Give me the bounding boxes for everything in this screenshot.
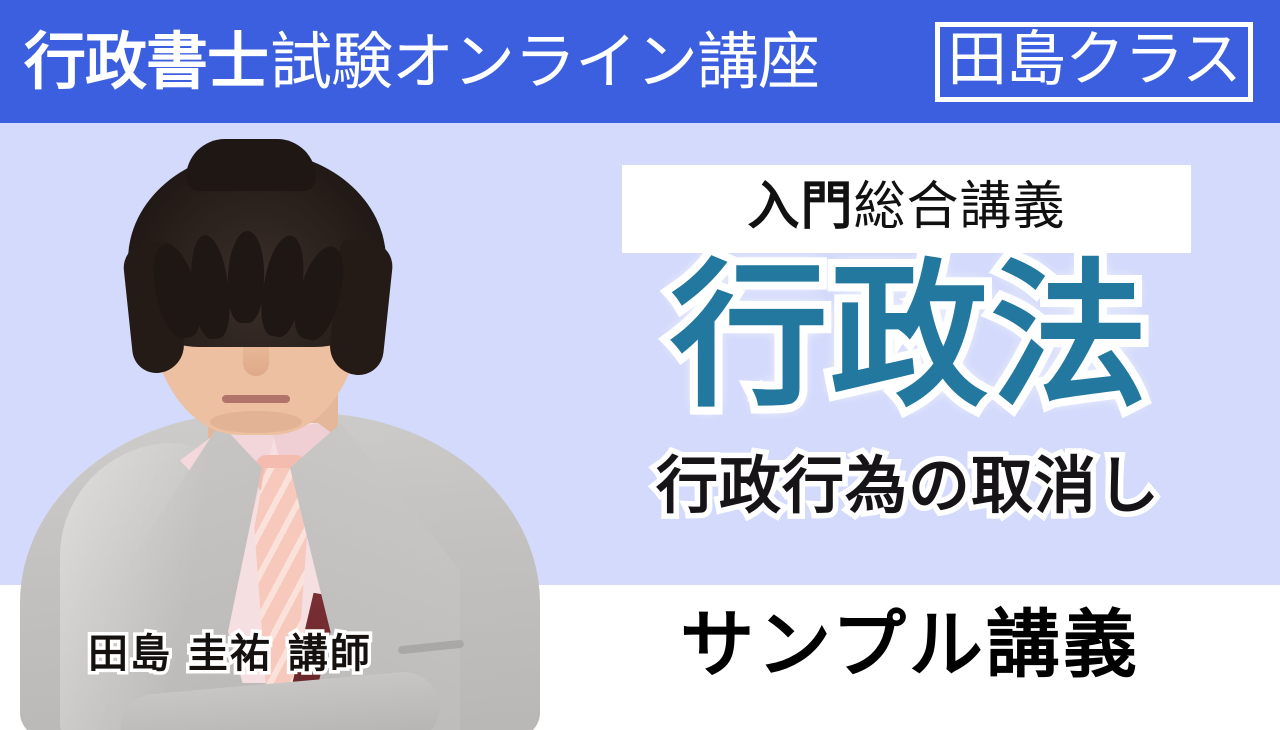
class-badge-label: 田島クラス (947, 30, 1241, 90)
sample-lecture-label: サンプル講義 (600, 608, 1220, 682)
kicker-light: 総合講義 (854, 177, 1066, 237)
jacket-highlight (60, 443, 230, 730)
kicker-text: 入門総合講義 (747, 181, 1065, 233)
header-title-light: 試験オンライン講座 (270, 31, 819, 93)
kicker-band: 入門総合講義 (622, 165, 1191, 253)
header-title-strong: 行政書士 (24, 31, 268, 93)
thumbnail-canvas: 行政書士試験オンライン講座 田島クラス (0, 0, 1280, 730)
hero-title: 行政法 (622, 258, 1198, 416)
chin-shadow (210, 411, 302, 433)
instructor-name-badge: 田島 圭祐 講師 (88, 634, 372, 674)
kicker-strong: 入門 (747, 177, 853, 237)
header-title: 行政書士試験オンライン講座 (24, 31, 819, 93)
class-badge: 田島クラス (935, 22, 1253, 102)
mouth (222, 395, 290, 403)
hero-subtitle: 行政行為の取消し (588, 455, 1228, 517)
hair-tuft-top (186, 139, 316, 191)
